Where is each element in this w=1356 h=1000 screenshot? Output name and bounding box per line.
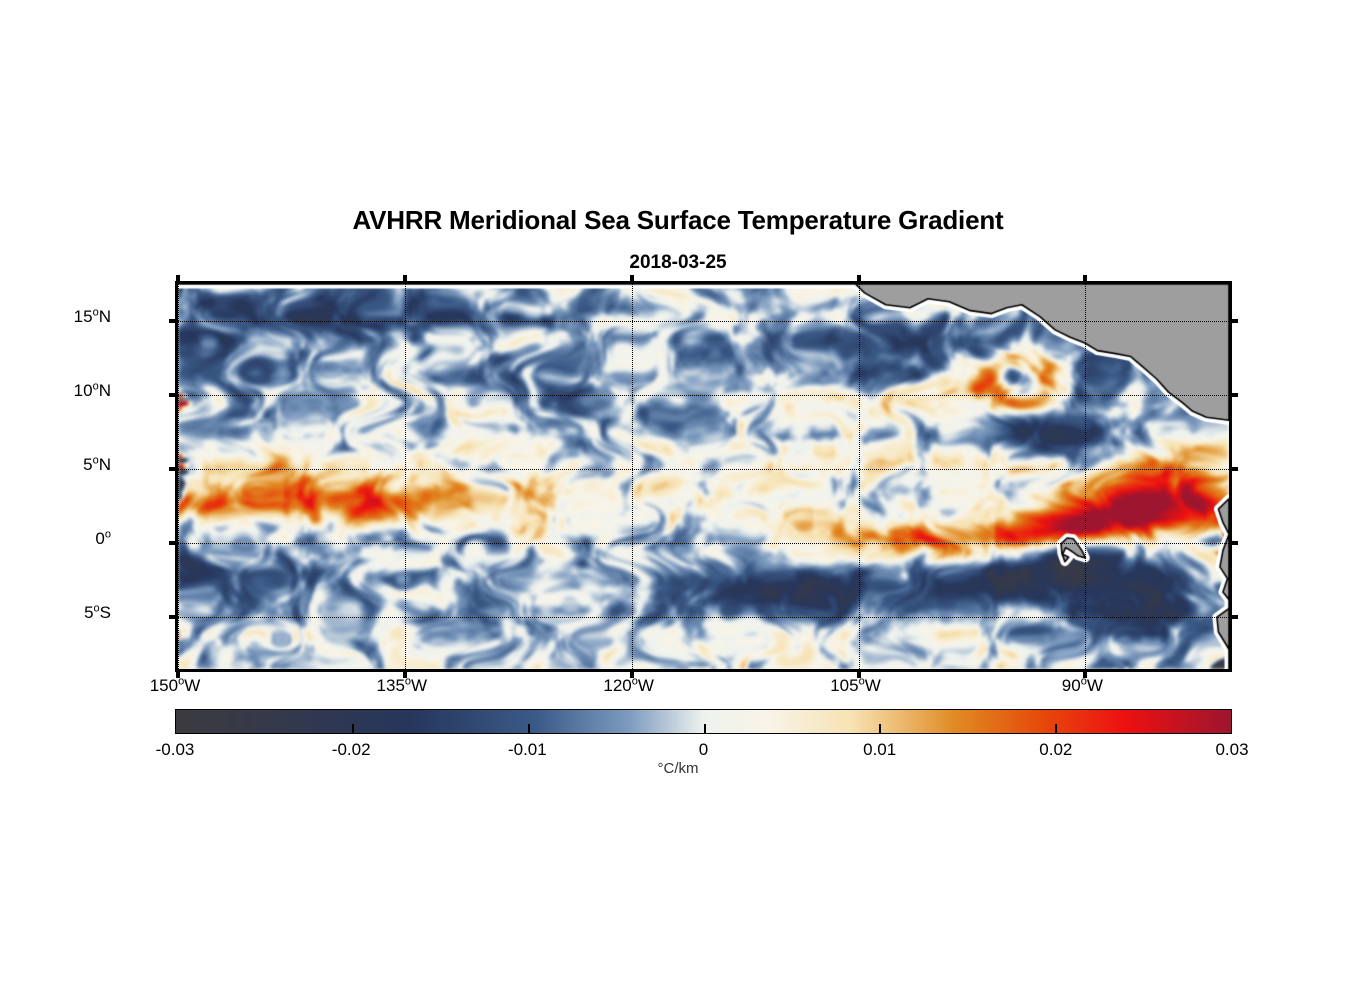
tick-latitude (169, 319, 178, 323)
colorbar-tick-label: 0.02 (996, 740, 1116, 760)
gridline-longitude (859, 284, 860, 669)
colorbar-unit-label: °C/km (0, 760, 1356, 777)
tick-latitude (1229, 319, 1238, 323)
colorbar-tick-label: -0.03 (115, 740, 235, 760)
tick-longitude (857, 275, 861, 284)
gridline-latitude (178, 395, 1229, 396)
figure-title: AVHRR Meridional Sea Surface Temperature… (0, 205, 1356, 236)
map-axes (175, 281, 1232, 672)
tick-latitude (169, 615, 178, 619)
tick-longitude (1083, 275, 1087, 284)
x-tick-label: 135oW (342, 676, 462, 696)
y-tick-label: 10oN (0, 381, 111, 401)
tick-latitude (1229, 467, 1238, 471)
gridline-longitude (178, 284, 179, 669)
colorbar-tick-label: 0.03 (1172, 740, 1292, 760)
x-tick-label: 150oW (115, 676, 235, 696)
gridline-latitude (178, 617, 1229, 618)
y-tick-label: 5oN (0, 455, 111, 475)
tick-longitude (630, 275, 634, 284)
colorbar-tick-label: 0.01 (820, 740, 940, 760)
colorbar-tick-label: -0.01 (467, 740, 587, 760)
x-tick-label: 120oW (569, 676, 689, 696)
colorbar-tick-label: 0 (644, 740, 764, 760)
colorbar (175, 709, 1232, 734)
colorbar-tick-label: -0.02 (291, 740, 411, 760)
y-tick-label: 5oS (0, 603, 111, 623)
tick-latitude (1229, 615, 1238, 619)
colorbar-tick (704, 724, 706, 733)
tick-latitude (169, 393, 178, 397)
tick-latitude (169, 541, 178, 545)
tick-latitude (1229, 541, 1238, 545)
tick-latitude (1229, 393, 1238, 397)
sst-gradient-heatmap (178, 284, 1229, 669)
colorbar-tick (352, 724, 354, 733)
tick-longitude (403, 275, 407, 284)
figure-subtitle: 2018-03-25 (0, 252, 1356, 274)
x-tick-label: 90oW (1022, 676, 1142, 696)
colorbar-tick (1055, 724, 1057, 733)
figure-root: AVHRR Meridional Sea Surface Temperature… (0, 0, 1356, 1000)
colorbar-tick (528, 724, 530, 733)
y-tick-label: 15oN (0, 307, 111, 327)
x-tick-label: 105oW (796, 676, 916, 696)
gridline-latitude (178, 543, 1229, 544)
tick-longitude (176, 275, 180, 284)
gridline-latitude (178, 469, 1229, 470)
gridline-latitude (178, 321, 1229, 322)
colorbar-tick (879, 724, 881, 733)
gridline-longitude (1085, 284, 1086, 669)
gridline-longitude (632, 284, 633, 669)
y-tick-label: 0o (0, 529, 111, 549)
tick-latitude (169, 467, 178, 471)
gridline-longitude (405, 284, 406, 669)
